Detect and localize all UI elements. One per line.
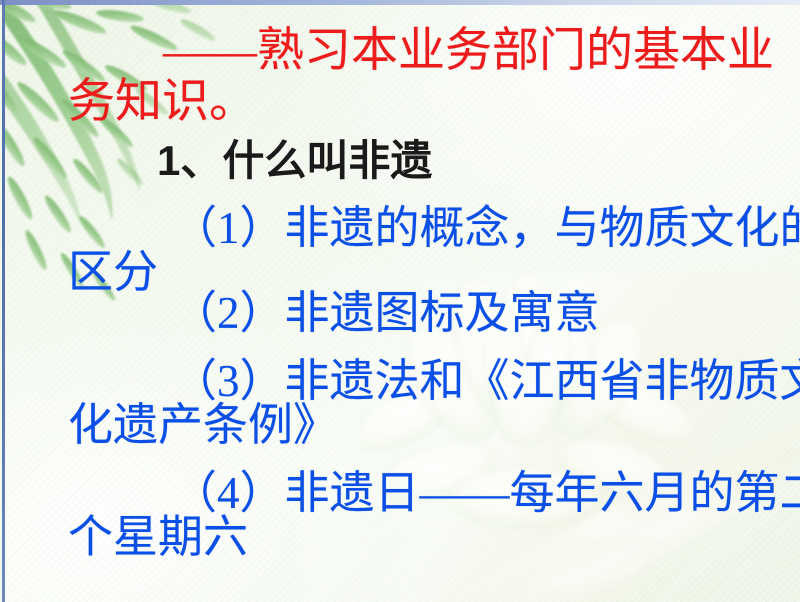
list-item-3-line-1: （3）非遗法和《江西省非物质文 xyxy=(172,358,800,405)
red-statement-line-1: ——熟习本业务部门的基本业 xyxy=(163,27,774,76)
slide-text-content: ——熟习本业务部门的基本业 务知识。 1、什么叫非遗 （1）非遗的概念，与物质文… xyxy=(0,0,800,602)
list-item-3-line-2: 化遗产条例》 xyxy=(68,402,338,449)
list-item-2-line-1: （2）非遗图标及寓意 xyxy=(172,290,600,337)
presentation-slide: ——熟习本业务部门的基本业 务知识。 1、什么叫非遗 （1）非遗的概念，与物质文… xyxy=(0,0,800,602)
section-heading: 1、什么叫非遗 xyxy=(157,139,432,183)
list-item-4-line-2: 个星期六 xyxy=(68,514,248,561)
red-statement-line-2: 务知识。 xyxy=(68,78,256,127)
list-item-1-line-1: （1）非遗的概念，与物质文化的 xyxy=(172,205,800,252)
list-item-1-line-2: 区分 xyxy=(68,249,158,296)
list-item-4-line-1: （4）非遗日——每年六月的第二 xyxy=(172,470,800,517)
